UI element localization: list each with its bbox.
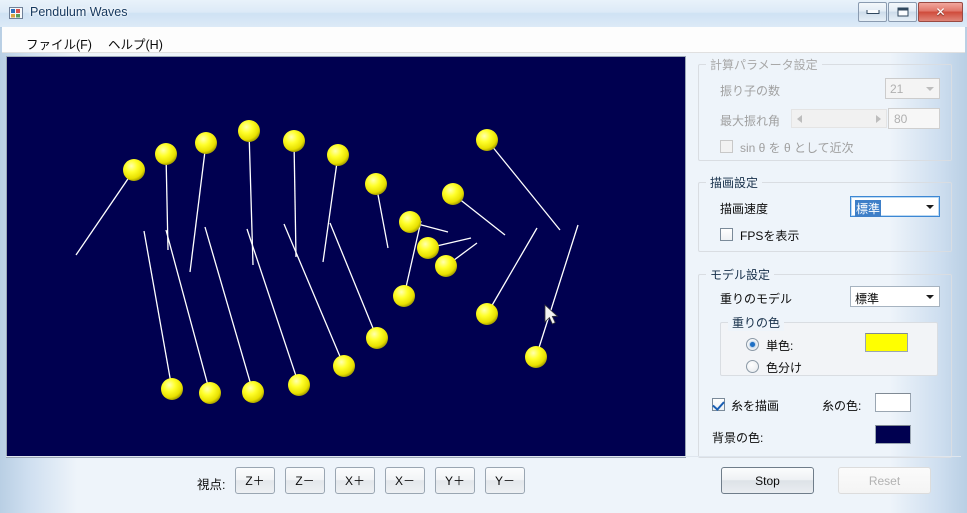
stop-button[interactable]: Stop	[721, 467, 814, 494]
close-icon: ✕	[935, 6, 945, 18]
viewpoint-button-y-minus[interactable]: Y－	[485, 467, 525, 494]
draw-string-label: 糸を描画	[731, 397, 779, 414]
bottom-toolbar: 視点: Z＋ Z－ X＋ X－ Y＋ Y－ Stop Reset	[2, 456, 965, 509]
pendulum-string	[294, 141, 296, 257]
background-color-label: 背景の色:	[712, 429, 763, 446]
max-angle-label: 最大振れ角	[720, 112, 780, 129]
pendulum-string	[323, 155, 338, 262]
divider	[6, 456, 961, 457]
pendulum-bob	[327, 144, 349, 166]
simulation-canvas[interactable]	[6, 56, 686, 458]
viewpoint-button-z-plus[interactable]: Z＋	[235, 467, 275, 494]
weight-color-group: 重りの色 単色: 色分け	[720, 314, 938, 376]
pendulum-bob	[155, 143, 177, 165]
menu-item-help[interactable]: ヘルプ(H)	[102, 32, 169, 55]
pendulum-bob	[365, 173, 387, 195]
maximize-button[interactable]	[888, 2, 917, 22]
pendulum-bob	[476, 303, 498, 325]
pendulum-string	[330, 223, 377, 338]
pendulum-bob	[238, 120, 260, 142]
drawing-speed-label: 描画速度	[720, 200, 768, 217]
viewpoint-button-y-plus[interactable]: Y＋	[435, 467, 475, 494]
pendulum-string	[536, 225, 578, 357]
pendulum-bob	[435, 255, 457, 277]
pendulum-bob	[442, 183, 464, 205]
draw-string-checkbox[interactable]	[712, 398, 725, 411]
viewpoint-label: 視点:	[197, 474, 225, 493]
string-color-label: 糸の色:	[822, 397, 861, 414]
show-fps-label: FPSを表示	[740, 227, 799, 244]
window-controls: ✕	[857, 2, 963, 23]
drawing-settings-title: 描画設定	[706, 174, 762, 191]
pendulum-bob	[393, 285, 415, 307]
single-color-swatch[interactable]	[865, 333, 908, 352]
check-icon	[712, 398, 725, 411]
weight-model-combobox[interactable]: 標準	[850, 286, 940, 307]
viewpoint-button-x-plus[interactable]: X＋	[335, 467, 375, 494]
chevron-down-icon	[926, 295, 934, 299]
pendulum-bob	[366, 327, 388, 349]
max-angle-textbox[interactable]: 80	[888, 108, 940, 129]
close-button[interactable]: ✕	[918, 2, 963, 22]
pendulum-bob	[242, 381, 264, 403]
viewpoint-button-z-minus[interactable]: Z－	[285, 467, 325, 494]
pendulum-bob	[417, 237, 439, 259]
menu-item-file[interactable]: ファイル(F)	[20, 32, 98, 55]
application-window: Pendulum Waves ✕ ファイル(F) ヘルプ(H)	[0, 0, 967, 513]
model-settings-title: モデル設定	[706, 266, 774, 283]
pendulum-bob	[123, 159, 145, 181]
pendulum-scene	[7, 57, 683, 455]
pendulum-bob	[195, 132, 217, 154]
pendulum-strings	[76, 131, 578, 393]
show-fps-checkbox[interactable]	[720, 228, 733, 241]
pendulum-bob	[476, 129, 498, 151]
menu-bar: ファイル(F) ヘルプ(H)	[2, 27, 965, 53]
drawing-speed-combobox[interactable]: 標準	[850, 196, 940, 217]
pendulum-count-combobox[interactable]: 21	[885, 78, 940, 99]
pendulum-string	[205, 227, 253, 392]
pendulum-bob	[199, 382, 221, 404]
max-angle-value: 80	[894, 112, 907, 126]
single-color-label: 単色:	[766, 337, 793, 354]
arrow-right-icon[interactable]	[876, 115, 881, 123]
minimize-button[interactable]	[858, 2, 887, 22]
max-angle-scrollbar[interactable]	[791, 109, 887, 128]
chevron-down-icon	[926, 205, 934, 209]
pendulum-string	[247, 229, 299, 385]
pendulum-count-value: 21	[890, 82, 903, 96]
pendulum-string	[144, 231, 172, 389]
drawing-settings-group: 描画設定 描画速度 標準 FPSを表示	[698, 174, 952, 252]
reset-button: Reset	[838, 467, 931, 494]
pendulum-bob	[399, 211, 421, 233]
weight-color-title: 重りの色	[728, 314, 784, 331]
settings-panel: 計算パラメータ設定 振り子の数 21 最大振れ角 80 sin θ を θ とし…	[692, 52, 960, 464]
single-color-radio[interactable]	[746, 338, 759, 351]
pendulum-bob	[525, 346, 547, 368]
pendulum-bob	[283, 130, 305, 152]
pendulum-bob	[333, 355, 355, 377]
sin-approx-label: sin θ を θ として近次	[740, 139, 854, 156]
pendulum-string	[76, 170, 134, 255]
arrow-left-icon[interactable]	[797, 115, 802, 123]
pendulum-count-label: 振り子の数	[720, 82, 780, 99]
multi-color-label: 色分け	[766, 359, 802, 376]
pendulum-string	[487, 228, 537, 314]
pendulum-bob	[161, 378, 183, 400]
pendulum-string	[284, 224, 344, 366]
minimize-icon	[866, 10, 879, 14]
weight-model-value: 標準	[855, 290, 879, 307]
sin-approx-checkbox[interactable]	[720, 140, 733, 153]
window-title: Pendulum Waves	[30, 5, 128, 19]
calculation-parameters-title: 計算パラメータ設定	[706, 56, 822, 73]
title-bar: Pendulum Waves ✕	[0, 0, 967, 28]
pendulum-bob	[288, 374, 310, 396]
weight-model-label: 重りのモデル	[720, 290, 792, 307]
maximize-icon	[897, 8, 908, 17]
calculation-parameters-group: 計算パラメータ設定 振り子の数 21 最大振れ角 80 sin θ を θ とし…	[698, 56, 952, 161]
chevron-down-icon	[926, 87, 934, 91]
drawing-speed-value: 標準	[855, 200, 881, 217]
pendulum-string	[166, 230, 210, 393]
background-color-swatch[interactable]	[875, 425, 911, 444]
pendulum-string	[190, 143, 206, 272]
pendulum-bobs	[123, 120, 547, 404]
string-color-swatch[interactable]	[875, 393, 911, 412]
model-settings-group: モデル設定 重りのモデル 標準 重りの色 単色:	[698, 266, 952, 458]
viewpoint-button-x-minus[interactable]: X－	[385, 467, 425, 494]
app-icon	[9, 6, 24, 21]
multi-color-radio[interactable]	[746, 360, 759, 373]
pendulum-string	[487, 140, 560, 230]
